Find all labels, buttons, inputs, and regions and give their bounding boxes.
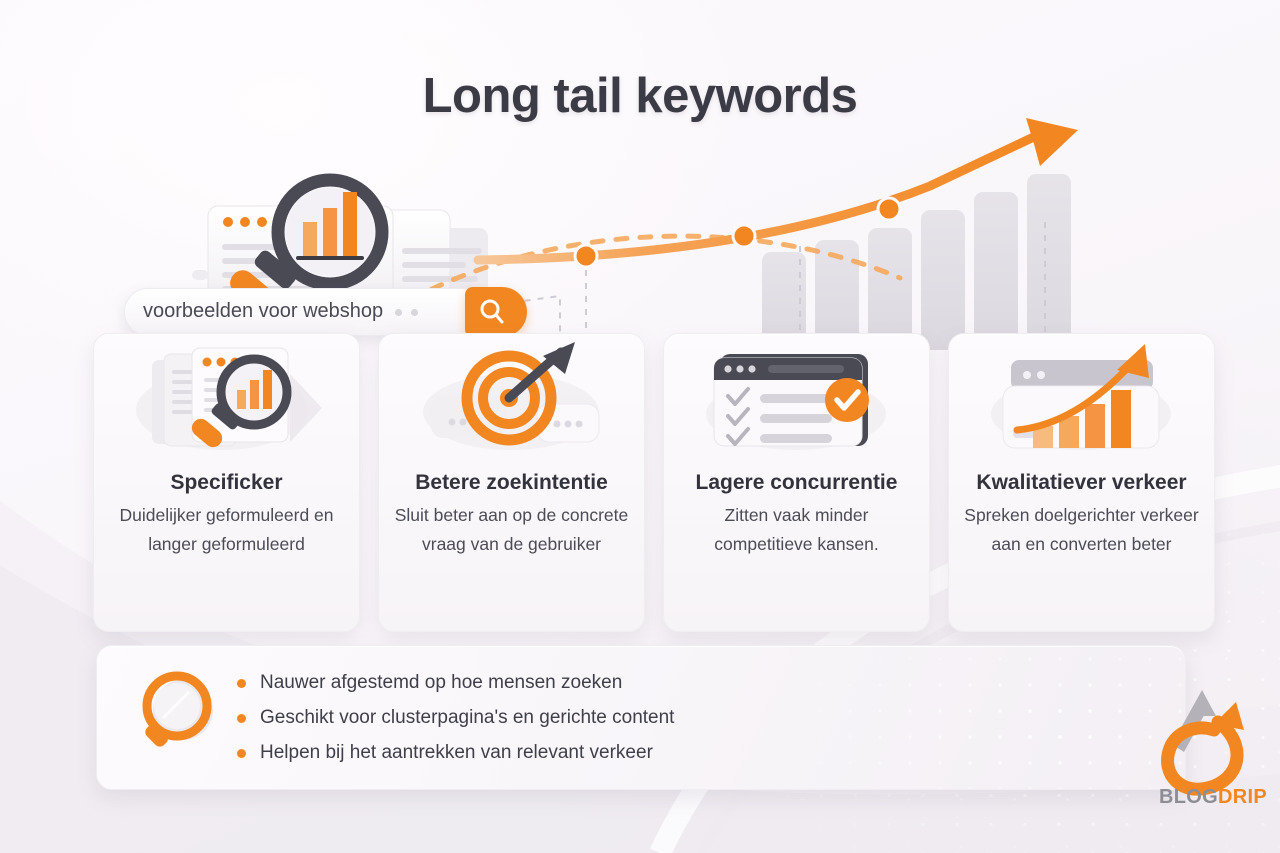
logo-word-drip: DRIP	[1218, 786, 1267, 808]
card-title: Kwalitatiever verkeer	[965, 466, 1198, 499]
bullet-text: Helpen bij het aantrekken van relevant v…	[260, 742, 653, 764]
panel-speckles	[625, 646, 1185, 789]
bullet-text: Nauwer afgestemd op hoe mensen zoeken	[260, 672, 622, 694]
bullet-text: Geschikt voor clusterpagina's en gericht…	[260, 707, 674, 729]
list-item: Nauwer afgestemd op hoe mensen zoeken	[237, 666, 674, 700]
search-suggestion-dots	[395, 309, 418, 316]
magnifier-document-chart-icon	[94, 334, 359, 460]
logo-wordmark: BLOGDRIP	[1152, 786, 1274, 809]
benefit-card[interactable]: Specificker Duidelijker geformuleerd en …	[93, 333, 360, 632]
logo-word-blog: BLOG	[1159, 786, 1218, 808]
search-input[interactable]: voorbeelden voor webshop	[143, 300, 383, 323]
hero-bar-chart	[762, 174, 1071, 350]
benefit-card[interactable]: Kwalitatiever verkeer Spreken doelgerich…	[948, 333, 1215, 632]
search-bar[interactable]: voorbeelden voor webshop	[124, 288, 486, 336]
card-description: Sluit beter aan op de concrete vraag van…	[392, 501, 631, 558]
bullet-dot	[237, 749, 246, 758]
card-description: Spreken doelgerichter verkeer aan en con…	[962, 501, 1201, 558]
list-item: Geschikt voor clusterpagina's en gericht…	[237, 701, 674, 735]
infographic-canvas: Long tail keywords	[0, 0, 1280, 853]
card-title: Specificker	[110, 466, 343, 499]
summary-bullet-list: Nauwer afgestemd op hoe mensen zoeken Ge…	[237, 666, 674, 771]
card-title: Betere zoekintentie	[395, 466, 628, 499]
search-icon	[477, 297, 507, 327]
search-button[interactable]	[465, 287, 527, 337]
bullet-dot	[237, 679, 246, 688]
list-item: Helpen bij het aantrekken van relevant v…	[237, 736, 674, 770]
rising-bar-chart-icon	[949, 334, 1214, 460]
card-title: Lagere concurrentie	[680, 466, 913, 499]
card-description: Duidelijker geformuleerd en langer gefor…	[107, 501, 346, 558]
summary-panel: Nauwer afgestemd op hoe mensen zoeken Ge…	[96, 645, 1186, 790]
magnifier-icon	[131, 668, 227, 768]
bullet-dot	[237, 714, 246, 723]
target-arrow-icon	[379, 334, 644, 460]
card-description: Zitten vaak minder competitieve kansen.	[677, 501, 916, 558]
benefit-card[interactable]: Lagere concurrentie Zitten vaak minder c…	[663, 333, 930, 632]
benefit-cards: Specificker Duidelijker geformuleerd en …	[93, 333, 1187, 633]
checklist-browser-icon	[664, 334, 929, 460]
benefit-card[interactable]: Betere zoekintentie Sluit beter aan op d…	[378, 333, 645, 632]
hero-illustration: voorbeelden voor webshop	[0, 110, 1280, 335]
